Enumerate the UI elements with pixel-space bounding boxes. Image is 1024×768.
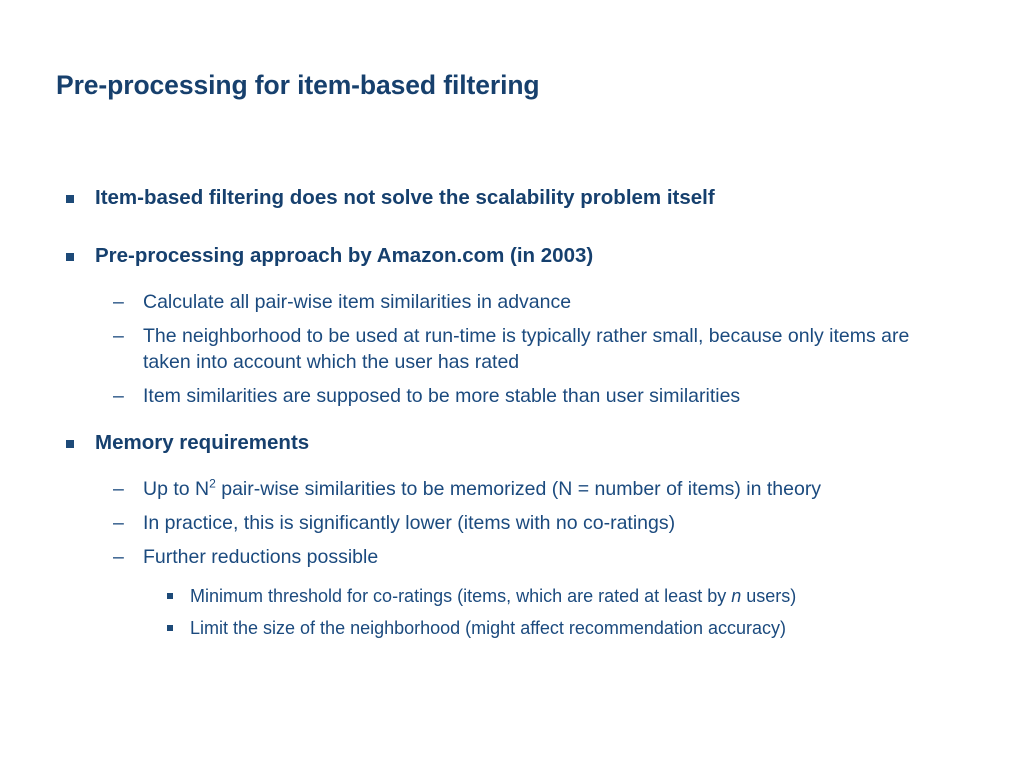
superscript-exponent: 2 <box>209 476 216 490</box>
list-item: – In practice, this is significantly low… <box>0 507 1024 541</box>
bullet-text: In practice, this is significantly lower… <box>143 507 933 541</box>
bullet-text: The neighborhood to be used at run-time … <box>143 320 933 380</box>
dash-bullet-icon: – <box>113 545 124 571</box>
bullet-text: Calculate all pair-wise item similaritie… <box>143 286 933 320</box>
list-item: Minimum threshold for co-ratings (items,… <box>0 581 1024 613</box>
bullet-text-part: Minimum threshold for co-ratings (items,… <box>190 586 731 606</box>
list-item: – Up to N2 pair-wise similarities to be … <box>0 473 1024 507</box>
list-item: – Calculate all pair-wise item similarit… <box>0 286 1024 320</box>
spacer <box>0 466 1024 473</box>
bullet-text: Minimum threshold for co-ratings (items,… <box>190 581 970 613</box>
bullet-text: Limit the size of the neighborhood (migh… <box>190 613 970 645</box>
spacer <box>0 414 1024 427</box>
list-item: Item-based filtering does not solve the … <box>0 182 1024 221</box>
list-item: – Item similarities are supposed to be m… <box>0 380 1024 414</box>
bullet-text-part: Up to N <box>143 478 209 500</box>
bullet-text-part: users) <box>741 586 796 606</box>
presentation-slide: Pre-processing for item-based filtering … <box>0 0 1024 768</box>
bullet-list-level-1: Item-based filtering does not solve the … <box>0 182 1024 645</box>
bullet-text: Memory requirements <box>95 427 1024 466</box>
dash-bullet-icon: – <box>113 290 124 316</box>
square-bullet-icon <box>66 253 74 261</box>
slide-body: Item-based filtering does not solve the … <box>0 182 1024 645</box>
square-bullet-icon <box>167 593 173 599</box>
bullet-text: Further reductions possible <box>143 541 933 575</box>
square-bullet-icon <box>167 625 173 631</box>
list-item: Memory requirements <box>0 427 1024 466</box>
dash-bullet-icon: – <box>113 477 124 503</box>
list-item: – The neighborhood to be used at run-tim… <box>0 320 1024 380</box>
spacer <box>0 574 1024 581</box>
bullet-text: Pre-processing approach by Amazon.com (i… <box>95 240 1024 279</box>
bullet-text-part: pair-wise similarities to be memorized (… <box>216 478 821 500</box>
dash-bullet-icon: – <box>113 384 124 410</box>
spacer <box>0 279 1024 286</box>
list-item: Pre-processing approach by Amazon.com (i… <box>0 240 1024 279</box>
bullet-text: Item similarities are supposed to be mor… <box>143 380 933 414</box>
dash-bullet-icon: – <box>113 511 124 537</box>
square-bullet-icon <box>66 195 74 203</box>
bullet-text: Up to N2 pair-wise similarities to be me… <box>143 473 933 507</box>
italic-variable: n <box>731 586 741 606</box>
page-title: Pre-processing for item-based filtering <box>56 70 956 102</box>
spacer <box>0 221 1024 240</box>
list-item: – Further reductions possible <box>0 541 1024 575</box>
square-bullet-icon <box>66 440 74 448</box>
bullet-text: Item-based filtering does not solve the … <box>95 182 1024 221</box>
dash-bullet-icon: – <box>113 324 124 350</box>
list-item: Limit the size of the neighborhood (migh… <box>0 613 1024 645</box>
